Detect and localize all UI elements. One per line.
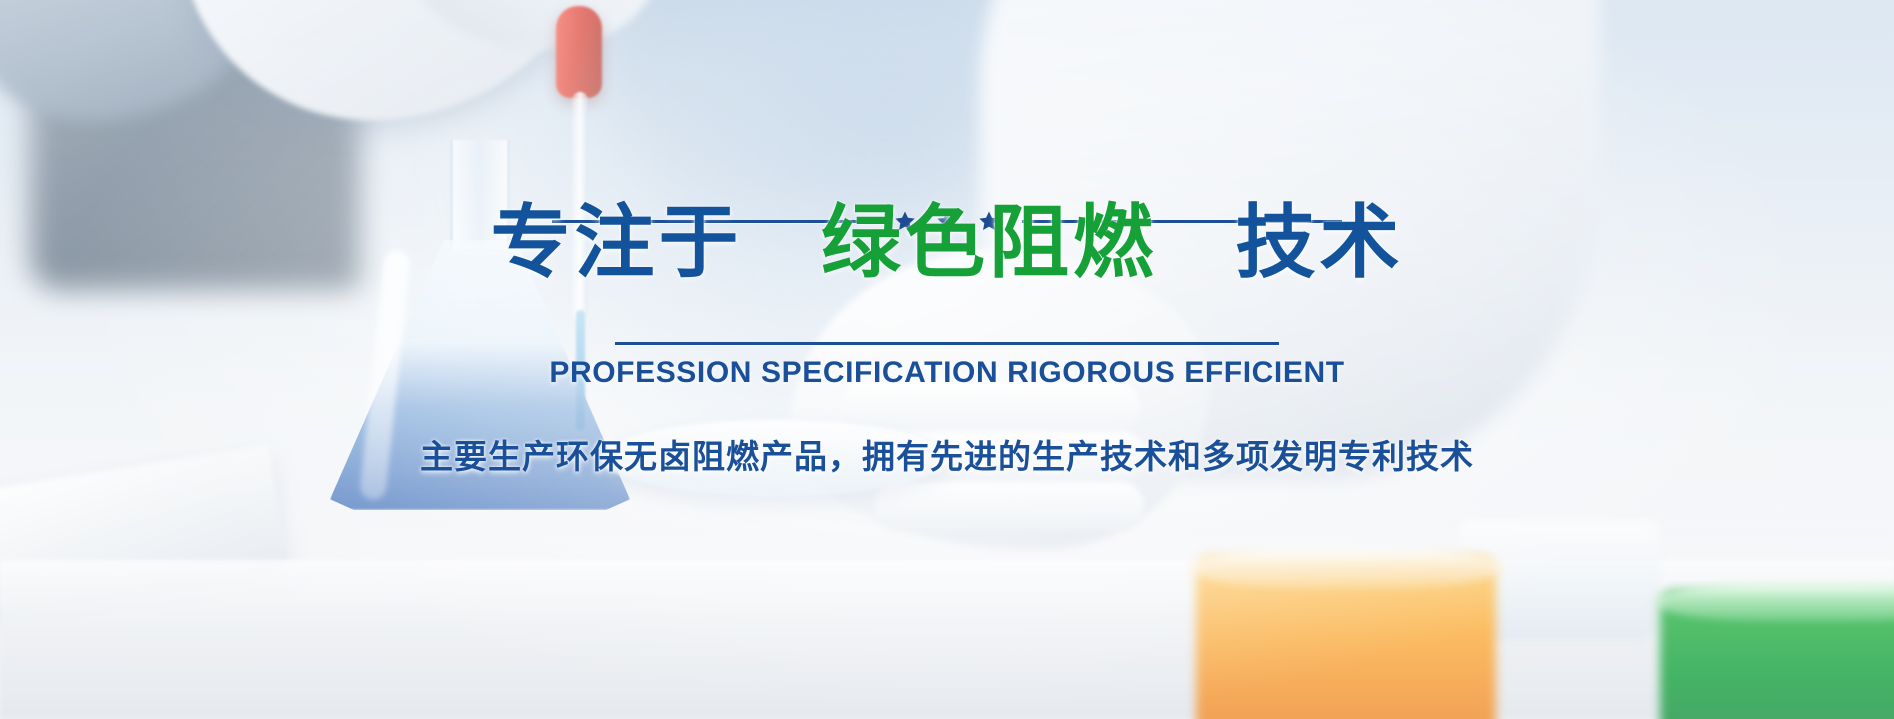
headline-part-3: 技术 xyxy=(1235,198,1403,287)
subtitle: PROFESSION SPECIFICATION RIGOROUS EFFICI… xyxy=(549,356,1344,390)
hero-banner: 专注于 绿色阻燃 技术 PROFESSION SPECIFICATION RIG… xyxy=(0,0,1894,719)
headline-part-1: 专注于 xyxy=(491,198,743,287)
headline-part-2: 绿色阻燃 xyxy=(821,198,1157,287)
headline: 专注于 绿色阻燃 技术 xyxy=(491,196,1404,290)
tagline: 主要生产环保无卤阻燃产品，拥有先进的生产技术和多项发明专利技术 xyxy=(420,430,1474,478)
banner-content: 专注于 绿色阻燃 技术 PROFESSION SPECIFICATION RIG… xyxy=(0,0,1894,719)
headline-underline xyxy=(615,342,1279,345)
